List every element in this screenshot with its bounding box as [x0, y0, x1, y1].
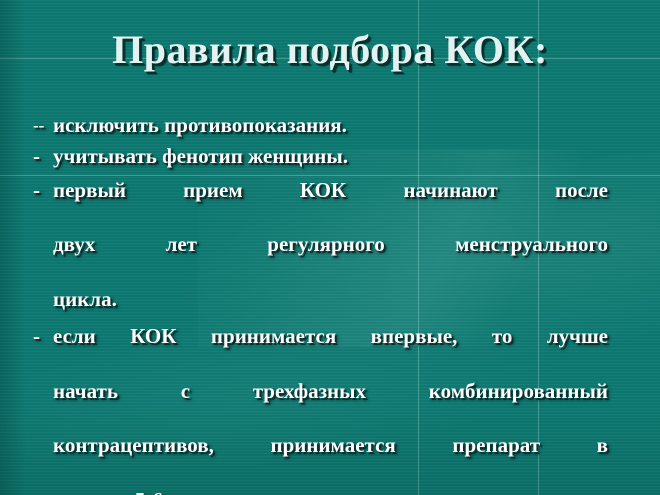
- presentation-slide: Правила подбора КОК: -- исключить против…: [0, 0, 660, 495]
- bullet-text-4: если КОК принимается впервые, то лучше н…: [53, 323, 608, 495]
- bullet-line: течении 5-6 месяцев, затем: [53, 487, 608, 495]
- bullet-line: начать с трехфазных комбинированный: [53, 378, 608, 433]
- bullet-item-4: - если КОК принимается впервые, то лучше…: [33, 323, 608, 495]
- bullet-line: если КОК принимается впервые, то лучше: [53, 323, 608, 378]
- bullet-line: исключить противопоказания.: [53, 112, 608, 139]
- bullet-line: двух лет регулярного менструального: [53, 231, 608, 286]
- slide-title: Правила подбора КОК:: [0, 26, 660, 73]
- bullet-marker-4: -: [33, 323, 53, 350]
- bullet-line: цикла.: [53, 286, 608, 313]
- bullet-marker-3: -: [33, 177, 53, 204]
- bullet-text-2: учитывать фенотип женщины.: [53, 143, 608, 170]
- bullet-line: учитывать фенотип женщины.: [53, 143, 608, 170]
- bullet-item-2: - учитывать фенотип женщины.: [33, 143, 608, 170]
- bullet-item-3: - первый прием КОК начинают после двух л…: [33, 177, 608, 313]
- bullet-marker-1: --: [33, 115, 53, 137]
- bullet-text-3: первый прием КОК начинают после двух лет…: [53, 177, 608, 313]
- bullet-line: контрацептивов, принимается препарат в: [53, 432, 608, 487]
- bullet-marker-2: -: [33, 143, 53, 170]
- bullet-item-1: -- исключить противопоказания.: [33, 112, 608, 139]
- slide-body-bullet-list: -- исключить противопоказания. - учитыва…: [33, 112, 608, 495]
- bullet-line: первый прием КОК начинают после: [53, 177, 608, 232]
- bullet-text-1: исключить противопоказания.: [53, 112, 608, 139]
